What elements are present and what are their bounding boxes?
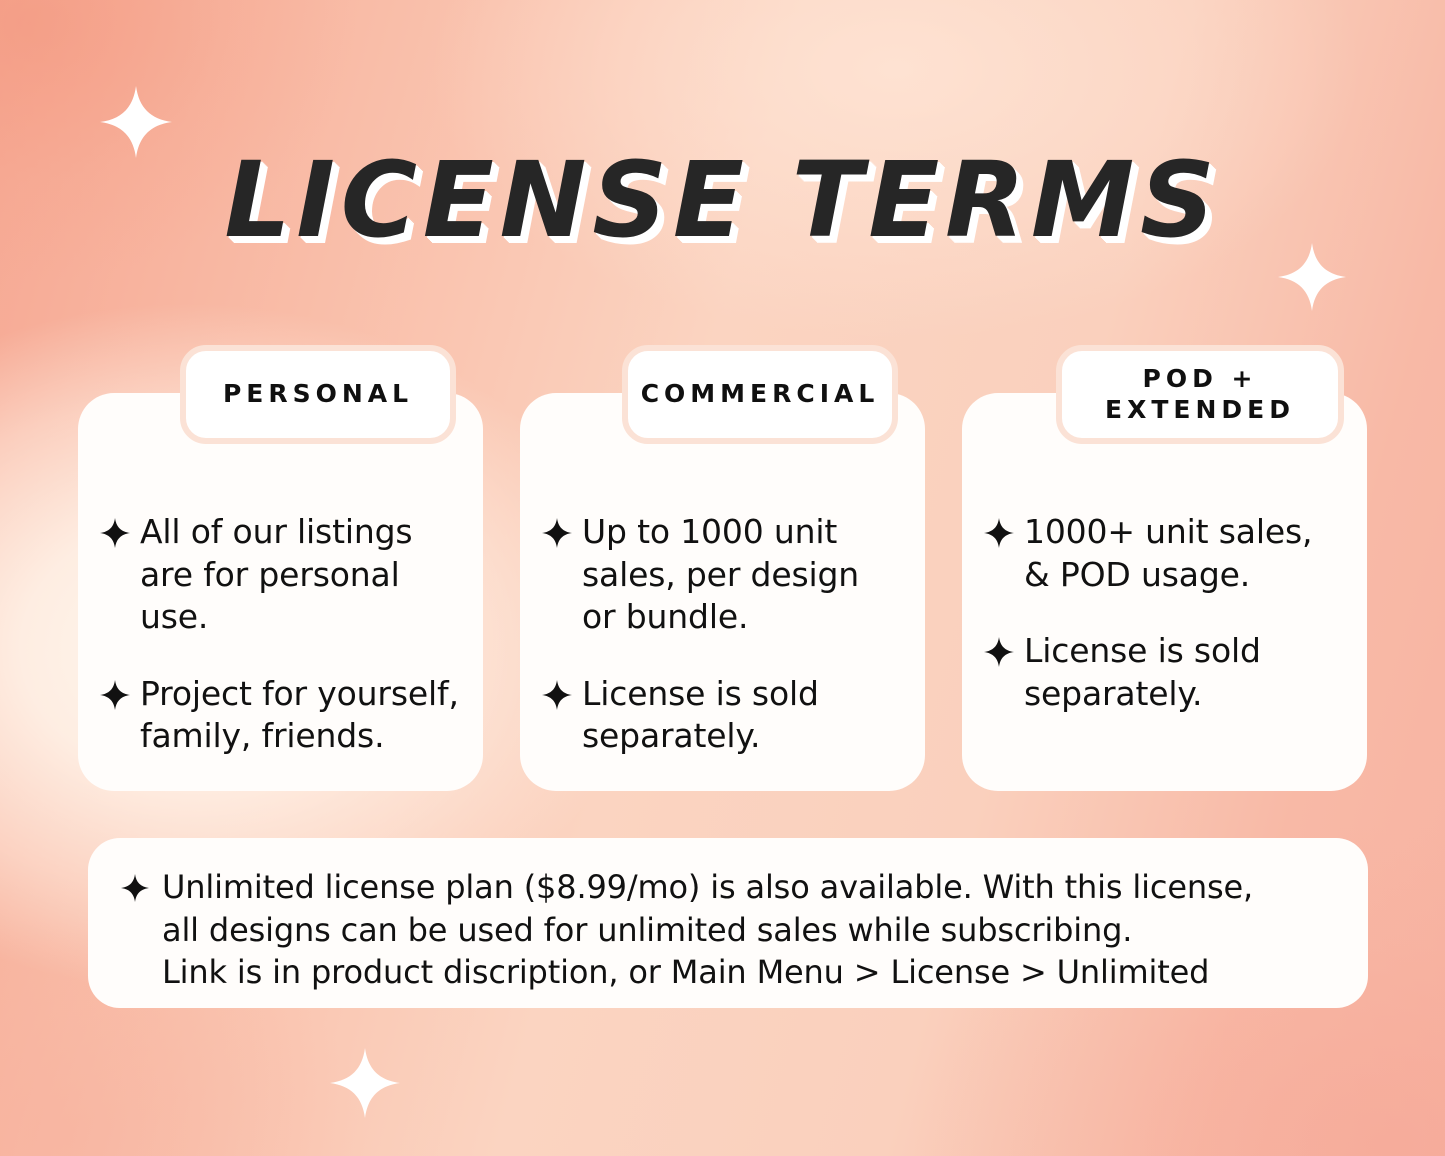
license-card-pod-extended-header-label: POD + EXTENDED bbox=[1091, 364, 1309, 425]
license-terms-graphic: LICENSE TERMS All of our listings are fo… bbox=[0, 0, 1445, 1156]
list-item-text: Up to 1000 unit sales, per design or bun… bbox=[582, 511, 859, 639]
list-item: All of our listings are for personal use… bbox=[100, 511, 467, 639]
license-card-personal: All of our listings are for personal use… bbox=[78, 393, 483, 791]
list-item: 1000+ unit sales, & POD usage. bbox=[984, 511, 1351, 596]
sparkle-bullet-icon bbox=[121, 874, 149, 902]
list-item: License is sold separately. bbox=[542, 673, 909, 758]
license-card-personal-header: PERSONAL bbox=[180, 345, 456, 444]
sparkle-bullet-icon bbox=[984, 637, 1014, 667]
sparkle-icon bbox=[330, 1048, 400, 1118]
list-item-text: License is sold separately. bbox=[582, 673, 819, 758]
license-tier-cards: All of our listings are for personal use… bbox=[72, 345, 1373, 795]
list-item-text: 1000+ unit sales, & POD usage. bbox=[1024, 511, 1312, 596]
license-card-personal-header-label: PERSONAL bbox=[209, 379, 427, 410]
unlimited-plan-banner-text: Unlimited license plan ($8.99/mo) is als… bbox=[162, 866, 1253, 994]
unlimited-plan-banner: Unlimited license plan ($8.99/mo) is als… bbox=[88, 838, 1368, 1008]
license-card-commercial: Up to 1000 unit sales, per design or bun… bbox=[520, 393, 925, 791]
sparkle-bullet-icon bbox=[984, 518, 1014, 548]
list-item-text: All of our listings are for personal use… bbox=[140, 511, 412, 639]
license-card-commercial-header-label: COMMERCIAL bbox=[627, 379, 894, 410]
license-card-pod-extended: 1000+ unit sales, & POD usage. License i… bbox=[962, 393, 1367, 791]
list-item-text: License is sold separately. bbox=[1024, 630, 1261, 715]
license-card-pod-extended-body: 1000+ unit sales, & POD usage. License i… bbox=[984, 511, 1351, 715]
sparkle-icon bbox=[1278, 243, 1346, 311]
list-item: License is sold separately. bbox=[984, 630, 1351, 715]
sparkle-bullet-icon bbox=[100, 518, 130, 548]
list-item-text: Project for yourself, family, friends. bbox=[140, 673, 459, 758]
list-item: Up to 1000 unit sales, per design or bun… bbox=[542, 511, 909, 639]
sparkle-bullet-icon bbox=[100, 680, 130, 710]
license-card-commercial-header: COMMERCIAL bbox=[622, 345, 898, 444]
license-card-pod-extended-header: POD + EXTENDED bbox=[1056, 345, 1344, 444]
list-item: Project for yourself, family, friends. bbox=[100, 673, 467, 758]
sparkle-bullet-icon bbox=[542, 680, 572, 710]
sparkle-bullet-icon bbox=[542, 518, 572, 548]
page-title: LICENSE TERMS bbox=[0, 148, 1445, 252]
list-item: Unlimited license plan ($8.99/mo) is als… bbox=[121, 866, 1253, 994]
license-card-personal-body: All of our listings are for personal use… bbox=[100, 511, 467, 758]
license-card-commercial-body: Up to 1000 unit sales, per design or bun… bbox=[542, 511, 909, 758]
